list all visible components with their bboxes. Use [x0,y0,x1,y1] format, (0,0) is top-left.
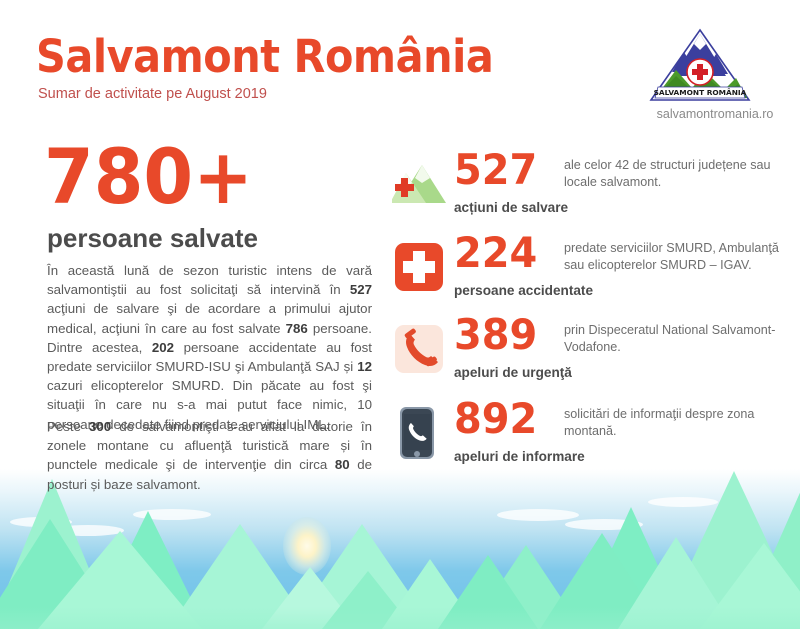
logo-svg: SALVAMONT ROMÂNIA [648,28,752,102]
page-title: Salvamont România [36,30,493,83]
stat-label: apeluri de informare [454,449,585,464]
phone-handset-icon [392,322,448,376]
stat-block-emergency-calls: 389 apeluri de urgenţă prin Dispeceratul… [392,320,792,392]
logo-banner-text: SALVAMONT ROMÂNIA [654,88,747,97]
stat-block-info-calls: 892 apeluri de informare solicitări de i… [392,404,792,476]
cloud-icon [497,509,579,521]
page-subtitle: Sumar de activitate pe August 2019 [38,86,267,102]
stat-label: apeluri de urgenţă [454,365,572,380]
salvamont-romania-logo: SALVAMONT ROMÂNIA [648,28,752,102]
body-paragraph-2: Peste 300 de salvamontişti s-au aflat la… [47,417,372,494]
stat-label: acțiuni de salvare [454,200,568,215]
stat-description: prin Dispeceratul National Salvamont-Vod… [564,322,794,356]
stat-description: solicitări de informaţii despre zona mon… [564,406,794,440]
website-url[interactable]: salvamontromania.ro [645,107,785,121]
stat-number: 527 [454,149,537,191]
mountains-rescue-icon [392,157,448,211]
stat-number: 224 [454,232,537,274]
stat-number: 389 [454,314,537,356]
red-cross-icon [392,240,448,294]
stat-number: 892 [454,398,537,440]
infographic-page: Salvamont România Sumar de activitate pe… [0,0,800,629]
smartphone-icon [392,406,448,460]
hero-label: persoane salvate [47,223,258,254]
stat-description: ale celor 42 de structuri județene sau l… [564,157,794,191]
hero-number: 780+ [44,139,253,215]
stat-block-injured-people: 224 persoane accidentate predate servici… [392,238,792,310]
body-paragraph-1: În această lună de sezon turistic intens… [47,261,372,434]
stat-block-rescue-actions: 527 acțiuni de salvare ale celor 42 de s… [392,155,792,227]
stat-description: predate serviciilor SMURD, Ambulanţă sau… [564,240,794,274]
stat-label: persoane accidentate [454,283,593,298]
water-band [0,607,800,629]
